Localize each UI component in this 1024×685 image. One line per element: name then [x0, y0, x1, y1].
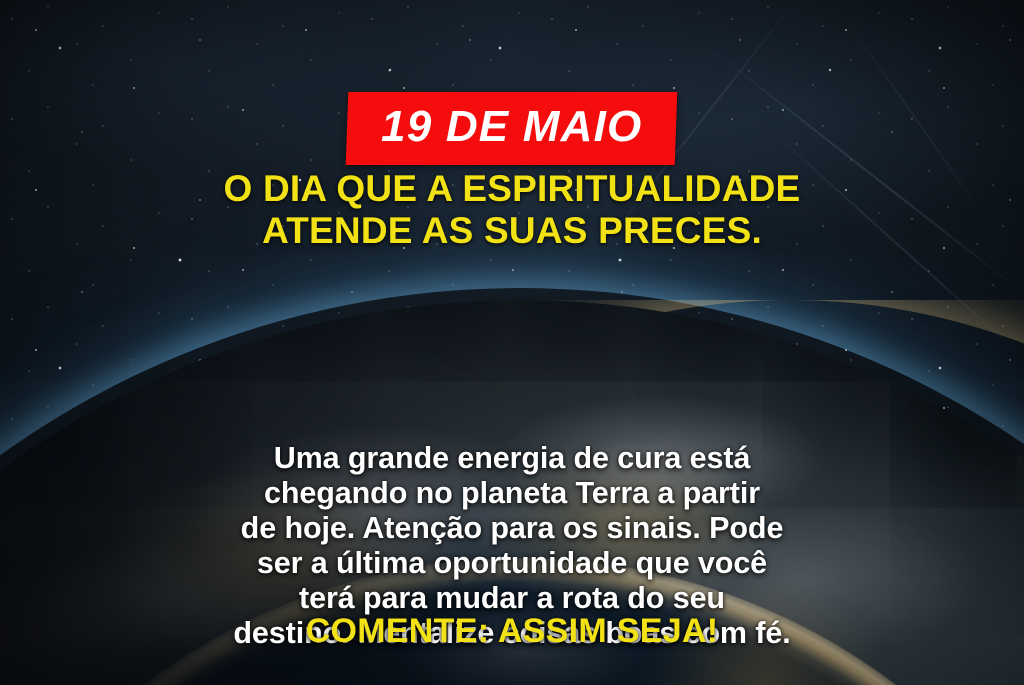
- body-line-3: de hoje. Atenção para os sinais. Pode: [58, 511, 966, 546]
- body-line-4: ser a última oportunidade que você: [58, 546, 966, 581]
- date-badge: 19 DE MAIO: [346, 92, 678, 165]
- headline: O DIA QUE A ESPIRITUALIDADE ATENDE AS SU…: [0, 168, 1024, 252]
- date-badge-row: 19 DE MAIO: [0, 92, 1024, 165]
- body-line-5: terá para mudar a rota do seu: [58, 581, 966, 616]
- date-badge-label: 19 DE MAIO: [381, 105, 642, 149]
- call-to-action: COMENTE: ASSIM SEJA!: [0, 612, 1024, 651]
- body-line-2: chegando no planeta Terra a partir: [58, 476, 966, 511]
- poster-image: 19 DE MAIO O DIA QUE A ESPIRITUALIDADE A…: [0, 0, 1024, 685]
- headline-line-1: O DIA QUE A ESPIRITUALIDADE: [24, 168, 1000, 210]
- poster-content: 19 DE MAIO O DIA QUE A ESPIRITUALIDADE A…: [0, 0, 1024, 685]
- body-line-1: Uma grande energia de cura está: [58, 441, 966, 476]
- headline-line-2: ATENDE AS SUAS PRECES.: [24, 210, 1000, 252]
